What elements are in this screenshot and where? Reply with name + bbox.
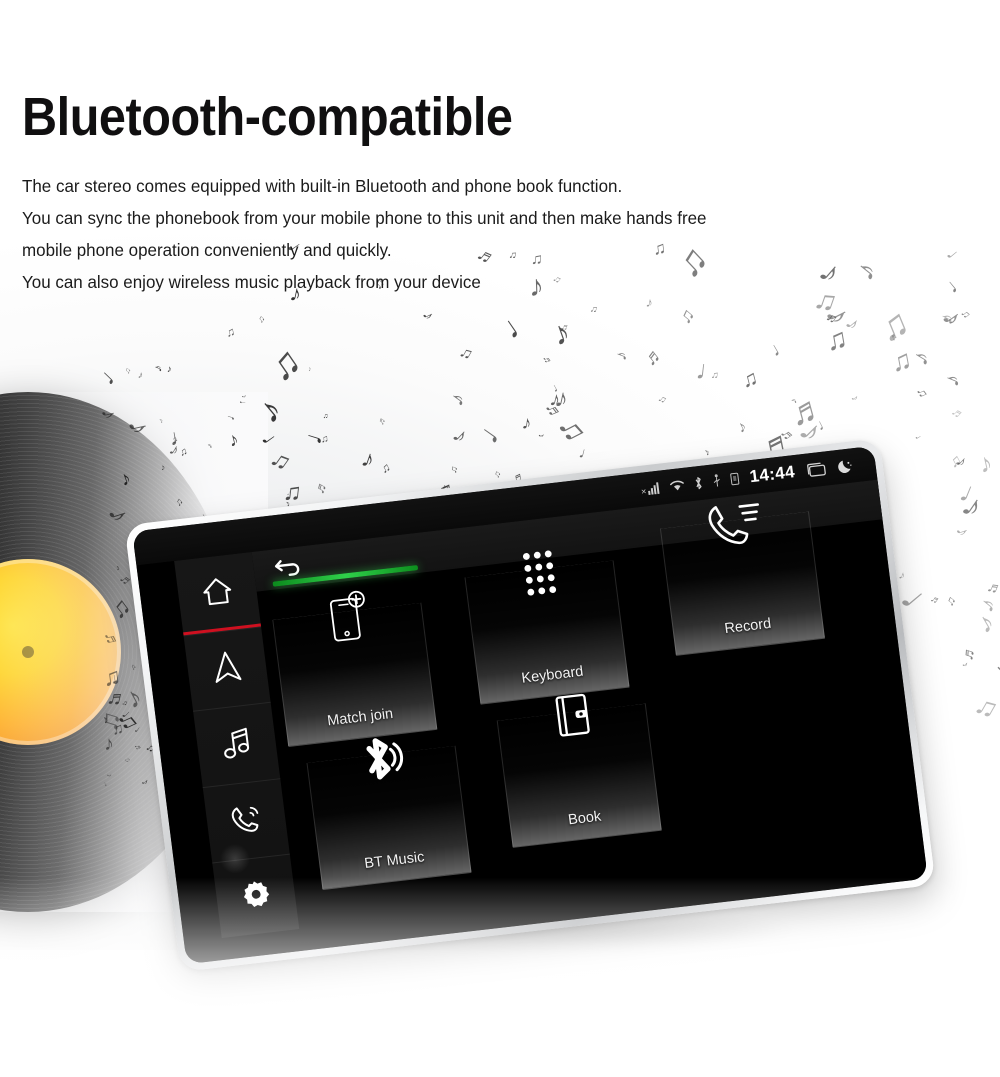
tile-book[interactable]: Book — [497, 704, 662, 848]
recent-apps-icon[interactable] — [805, 461, 829, 478]
sidebar-item-music[interactable] — [193, 703, 280, 788]
tile-label: BT Music — [364, 849, 426, 872]
music-note-icon — [218, 724, 255, 766]
back-arrow-icon[interactable] — [271, 556, 302, 581]
tile-label: Match join — [326, 706, 394, 729]
tile-label: Record — [724, 616, 772, 637]
sidebar-item-home[interactable] — [174, 552, 261, 637]
page-title: Bluetooth-compatible — [22, 88, 512, 146]
phone-add-icon — [270, 577, 425, 656]
home-icon — [198, 573, 236, 614]
sidebar-item-phone[interactable] — [203, 779, 290, 864]
tile-bt-music[interactable]: BT Music — [307, 746, 472, 890]
wifi-icon — [668, 479, 684, 493]
tile-label: Keyboard — [521, 664, 585, 687]
svg-text:×: × — [640, 486, 646, 497]
description-line: You can sync the phonebook from your mob… — [22, 202, 895, 234]
navigation-arrow-icon — [210, 648, 245, 690]
sidebar-item-navigation[interactable] — [184, 628, 271, 713]
description-line: The car stereo comes equipped with built… — [22, 170, 895, 202]
sim-card-icon — [729, 472, 740, 487]
usb-icon — [711, 474, 722, 489]
night-mode-icon[interactable] — [836, 457, 855, 476]
page-description: The car stereo comes equipped with built… — [22, 170, 895, 298]
app-tile-grid: Match join BT Music — [269, 528, 898, 923]
background-bottom-fade — [0, 877, 1000, 1077]
page-stage: ♫♪♫♫♩♫♬♬♬♫♬♬♫♫♬♫♩♪♪♪♫♪♬♫♫♪♫♪♫♩♬♬♩♫♪♪♪♪♪♪… — [0, 0, 1000, 1077]
bluetooth-icon — [692, 476, 704, 491]
description-line: You can also enjoy wireless music playba… — [22, 266, 895, 298]
status-bar-time: 14:44 — [748, 462, 796, 487]
tile-label: Book — [567, 809, 602, 829]
phone-icon — [227, 800, 265, 841]
signal-off-icon: × — [640, 481, 662, 497]
tile-record[interactable]: Record — [660, 512, 825, 656]
description-line: mobile phone operation conveniently and … — [22, 234, 895, 266]
